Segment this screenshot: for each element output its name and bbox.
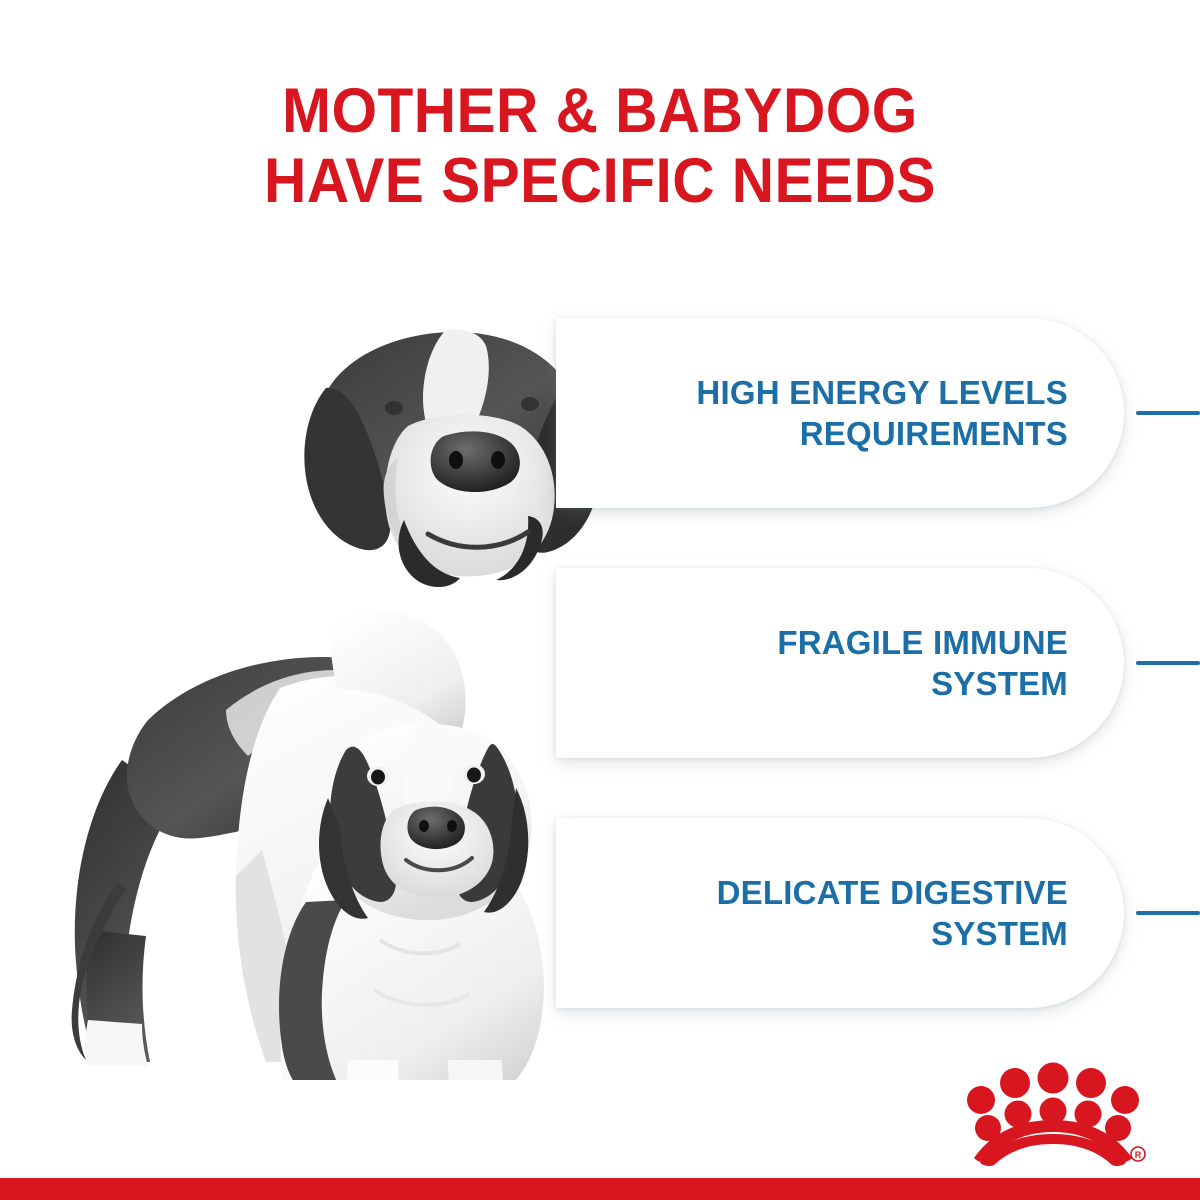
benefit-connector-high-energy xyxy=(1136,411,1200,415)
footer-accent-bar xyxy=(0,1178,1200,1200)
benefit-card-high-energy[interactable]: HIGH ENERGY LEVELS REQUIREMENTS xyxy=(556,318,1124,508)
benefit-label-high-energy: HIGH ENERGY LEVELS REQUIREMENTS xyxy=(696,372,1068,454)
benefit-connector-fragile-immune xyxy=(1136,661,1200,665)
benefit-card-delicate-digestive[interactable]: DELICATE DIGESTIVE SYSTEM xyxy=(556,818,1124,1008)
page-title: MOTHER & BABYDOG HAVE SPECIFIC NEEDS xyxy=(42,76,1158,216)
registered-trademark-mark: R xyxy=(1131,1147,1145,1161)
page-title-line-1: MOTHER & BABYDOG xyxy=(42,76,1158,146)
infographic-canvas: MOTHER & BABYDOG HAVE SPECIFIC NEEDS xyxy=(0,0,1200,1200)
benefit-card-fragile-immune[interactable]: FRAGILE IMMUNE SYSTEM xyxy=(556,568,1124,758)
benefit-label-delicate-digestive: DELICATE DIGESTIVE SYSTEM xyxy=(717,872,1068,954)
svg-text:R: R xyxy=(1135,1150,1142,1160)
benefit-connector-delicate-digestive xyxy=(1136,911,1200,915)
page-title-line-2: HAVE SPECIFIC NEEDS xyxy=(42,146,1158,216)
benefit-label-fragile-immune: FRAGILE IMMUNE SYSTEM xyxy=(777,622,1068,704)
royal-canin-crown-icon: R xyxy=(958,1062,1148,1166)
